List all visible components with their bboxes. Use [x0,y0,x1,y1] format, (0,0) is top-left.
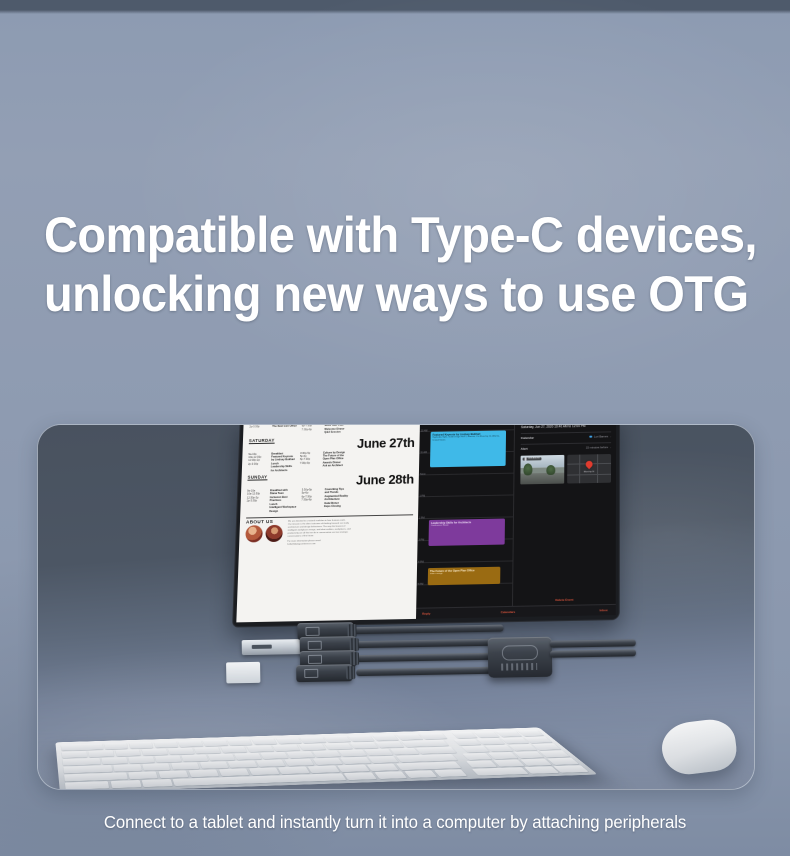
delete-event-button[interactable]: Delete Event [555,598,573,602]
saturday-right-col: 3:30p-5p 5p-6p 6p-7:30p 7:30p-9p Culture… [299,451,345,472]
top-right-times: 5p-6p 6p-7:30p 7:30p-9p [301,424,321,435]
sunday-columns: 9a-10a 10a-12:30p 12:30p-2p 2p-3:30p Bre… [246,487,413,514]
calendar-color-dot [589,435,592,438]
detail-label: Calendar [521,436,534,440]
saturday-label: SATURDAY [249,438,275,444]
about-avatars [245,525,283,543]
schedule-document-pane: 12:00p-2p 2p-3:30p for Oak Kean The Next… [236,424,420,622]
hour-label: 4 PM [418,561,424,564]
hour-label: 3 PM [419,539,425,542]
look-around-icon [524,458,526,460]
sunday-right-times: 3:30p-5p 5p-6p 6p-7:30p 7:30p-9p [301,488,322,512]
detail-row-alert[interactable]: Alert 15 minutes before › [521,442,611,451]
sunday-left-col: 9a-10a 10a-12:30p 12:30p-2p 2p-3:30p Bre… [246,489,296,514]
otg-usb-hub [205,609,637,706]
schedule-day-saturday: SATURDAY June 27th 9a-10a 10a-12:30p 12:… [248,436,415,473]
sunday-left-times: 9a-10a 10a-12:30p 12:30p-2p 2p-3:30p [246,489,267,513]
usb-strain-relief [350,652,359,665]
detail-value: Lori Barnes › [589,434,611,438]
hour-label: Noon [420,473,426,476]
usb-strain-relief [346,666,355,679]
chevron-right-icon: › [610,445,611,449]
hub-output-cable [550,649,636,657]
schedule-day-sunday: SUNDAY June 28th 9a-10a 10a-12:30p 12:30… [246,473,414,514]
tablet-screen: 12:00p-2p 2p-3:30p for Oak Kean The Next… [236,424,616,622]
sunday-right-items: Coworking Tips and Trends Augmented Real… [324,488,348,512]
about-left: ABOUT US [245,520,283,548]
about-us-section: ABOUT US We are devoted to a natural evo… [245,514,413,547]
hour-label: 5 PM [418,583,424,586]
top-rows-left: 12:00p-2p 2p-3:30p for Oak Kean The Next… [249,424,297,436]
calendar-event-leadership[interactable]: Leadership Skills for Architects Confere… [428,519,504,546]
sunday-label: SUNDAY [247,475,267,481]
sunday-right-col: 3:30p-5p 5p-6p 6p-7:30p 7:30p-9p Coworki… [301,488,348,513]
usb-flash-drive-body [226,662,260,684]
calendar-app-pane: 10 AM 11 AM Noon 1 PM 2 PM 3 PM 4 PM [416,424,616,619]
saturday-left-items: Breakfast Featured Keynote by Lindsay Bu… [271,452,295,473]
event-datetime: Saturday, Jun 27, 2020 10:40 AM to 12:00… [521,424,611,429]
headline-line-1: Compatible with Type-C devices, [44,206,711,265]
hour-label: 2 PM [419,517,425,520]
detail-label: Alert [521,447,528,451]
hub-ribbon-cable [353,625,503,635]
hour-label: 10 AM [421,429,428,432]
hub-ribbon-cable [356,639,504,649]
top-right-items: Plan Your Work, Work Your Plan Welcome D… [324,424,344,434]
saturday-columns: 9a-10a 10a-12:30p 12:30p-2p 2p-3:30p Bre… [248,449,415,472]
sunday-left-items: Breakfast with Diana Tuen Inclusion Best… [269,489,296,513]
about-us-title: ABOUT US [246,520,283,524]
headline-line-2: unlocking new ways to use OTG [44,265,711,324]
hub-output-cable [550,639,636,647]
calendar-day-grid[interactable]: 10 AM 11 AM Noon 1 PM 2 PM 3 PM 4 PM [416,424,515,619]
document-top-rows: 12:00p-2p 2p-3:30p for Oak Kean The Next… [249,424,415,436]
avatar [265,525,283,542]
saturday-right-times: 3:30p-5p 5p-6p 6p-7:30p 7:30p-9p [299,451,320,472]
hour-label: 11 AM [420,451,427,454]
hub-ribbon-cable [356,667,504,677]
hub-body [488,637,553,678]
saturday-left-col: 9a-10a 10a-12:30p 12:30p-2p 2p-3:30p Bre… [248,452,295,473]
product-photo-panel: 12:00p-2p 2p-3:30p for Oak Kean The Next… [37,424,755,790]
hour-label: 1 PM [419,495,425,498]
map-pin-icon [584,459,594,469]
chevron-right-icon: › [610,434,611,438]
saturday-right-items: Culture by Design The Future of the Open… [322,451,345,472]
product-banner: Compatible with Type-C devices, unlockin… [0,0,790,856]
calendar-event-openplan[interactable]: The Future of the Open Plan Office Main … [428,567,501,586]
saturday-left-times: 9a-10a 10a-12:30p 12:30p-2p 2p-3:30p [248,452,269,473]
usb-flash-drive [242,639,308,655]
about-us-body: We are devoted to a natural evolution in… [287,517,413,546]
saturday-date: June 27th [351,436,415,451]
top-left-times: 12:00p-2p 2p-3:30p [249,424,269,436]
page-title: Compatible with Type-C devices, unlockin… [44,206,711,324]
calendar-event-keynote[interactable]: Featured Keynote by Lindsay Bukhari Hyph… [430,430,506,467]
caption-text: Connect to a tablet and instantly turn i… [16,812,774,833]
usb-connector-4 [296,664,352,682]
detail-value: 15 minutes before › [586,445,611,449]
sunday-date: June 28th [350,473,414,488]
event-media: Look Around Bluechip 14 [520,454,611,484]
top-left-items: for Oak Kean The Next Gen Office [272,424,297,435]
hub-ribbon-cable [356,653,504,663]
avatar [245,525,263,542]
map-pin-label: Bluechip 14 [584,471,594,473]
detail-row-calendar[interactable]: Calendar Lori Barnes › [521,431,611,440]
top-rows-right: 5p-6p 6p-7:30p 7:30p-9p Plan Your Work, … [301,424,344,435]
event-detail-panel: Bluechip 14, Atlanta, United States Satu… [513,424,616,617]
tablet-device: 12:00p-2p 2p-3:30p for Oak Kean The Next… [232,424,620,628]
map-thumbnail[interactable]: Bluechip 14 [567,454,611,484]
street-view-thumbnail[interactable]: Look Around [520,455,564,485]
